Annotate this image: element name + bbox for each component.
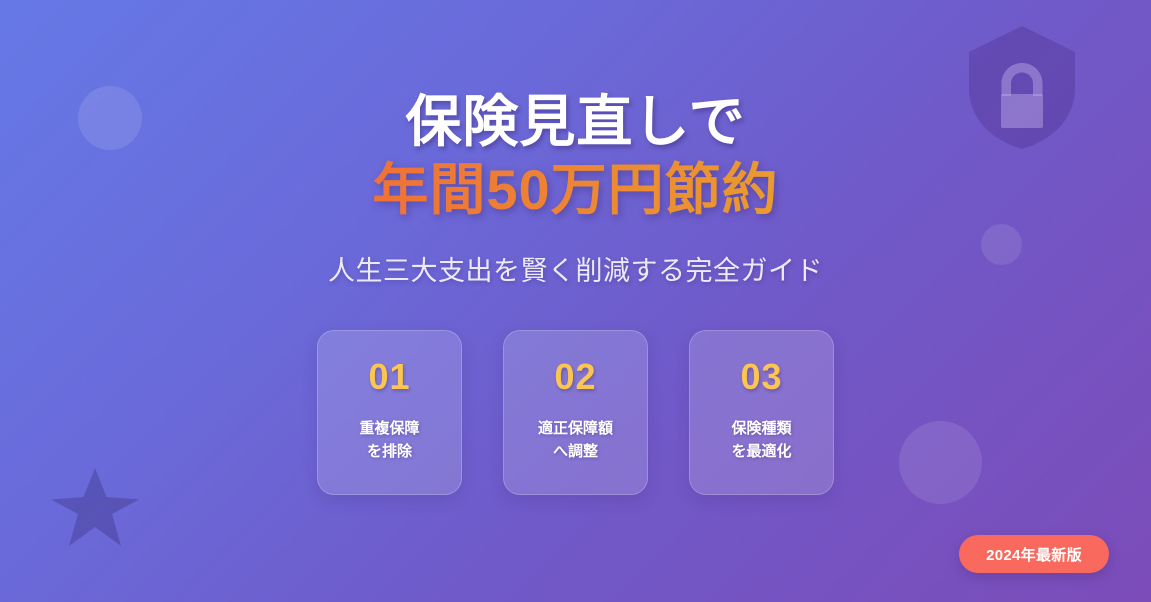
step-number-03: 03 xyxy=(740,359,782,395)
step-label-03-line-2: を最適化 xyxy=(731,440,791,463)
step-label-03: 保険種類 を最適化 xyxy=(731,417,791,464)
page-title-line-2-highlight: 年間50万円節約 xyxy=(0,157,1151,223)
step-card-01[interactable]: 01 重複保障 を排除 xyxy=(317,330,462,495)
step-card-03[interactable]: 03 保険種類 を最適化 xyxy=(689,330,834,495)
step-label-01-line-2: を排除 xyxy=(359,440,419,463)
step-label-01-line-1: 重複保障 xyxy=(359,417,419,440)
status-badge-label: 2024年最新版 xyxy=(986,544,1082,565)
step-label-02: 適正保障額 へ調整 xyxy=(538,417,613,464)
step-number-01: 01 xyxy=(368,359,410,395)
status-badge: 2024年最新版 xyxy=(959,535,1109,573)
step-card-02[interactable]: 02 適正保障額 へ調整 xyxy=(503,330,648,495)
insurance-savings-hero-banner: 保険見直しで 年間50万円節約 人生三大支出を賢く削減する完全ガイド 01 重複… xyxy=(0,0,1151,602)
step-label-03-line-1: 保険種類 xyxy=(731,417,791,440)
step-label-02-line-1: 適正保障額 xyxy=(538,417,613,440)
step-card-list: 01 重複保障 を排除 02 適正保障額 へ調整 03 保険種類 を最適化 xyxy=(0,330,1151,495)
page-title-line-1: 保険見直しで xyxy=(0,89,1151,155)
step-label-01: 重複保障 を排除 xyxy=(359,417,419,464)
step-number-02: 02 xyxy=(554,359,596,395)
headline-group: 保険見直しで 年間50万円節約 xyxy=(0,89,1151,223)
step-label-02-line-2: へ調整 xyxy=(538,440,613,463)
page-subtitle: 人生三大支出を賢く削減する完全ガイド xyxy=(0,249,1151,288)
